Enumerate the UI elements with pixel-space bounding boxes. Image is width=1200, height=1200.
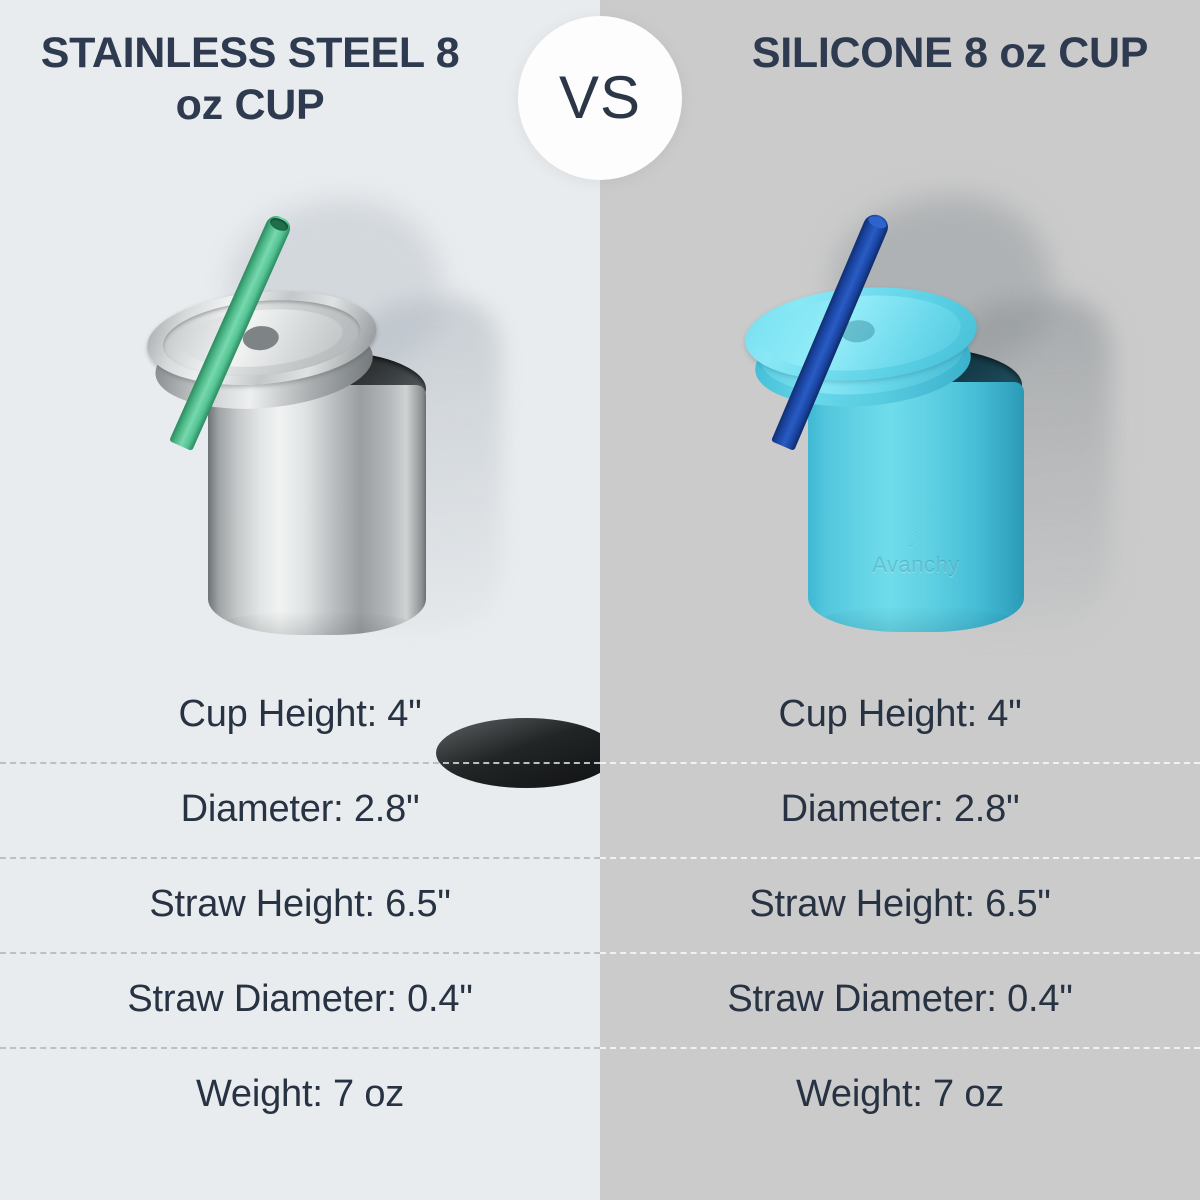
vs-badge: VS (518, 16, 682, 180)
brand-name: Avanchy (872, 552, 959, 577)
spec-text: Diameter: 2.8" (781, 788, 1020, 831)
spec-row: Cup Height: 4" (0, 667, 600, 762)
spec-text: Straw Height: 6.5" (749, 883, 1050, 926)
panel-silicone: SILICONE 8 oz CUP ☄ Avanchy (600, 0, 1200, 1200)
product-image-silicone-cup: ☄ Avanchy (600, 0, 1200, 670)
spec-row: Diameter: 2.8" (0, 762, 600, 857)
spec-text: Cup Height: 4" (778, 693, 1021, 736)
cup-lid (143, 282, 383, 422)
spec-text: Straw Diameter: 0.4" (127, 978, 472, 1021)
spec-list-silicone: Cup Height: 4" Diameter: 2.8" Straw Heig… (600, 667, 1200, 1200)
spec-text: Straw Height: 6.5" (149, 883, 450, 926)
cup-body: ☄ Avanchy (808, 382, 1024, 632)
brand-mark-icon: ☄ (872, 532, 959, 552)
spec-row: Diameter: 2.8" (600, 762, 1200, 857)
spec-text: Diameter: 2.8" (181, 788, 420, 831)
spec-text: Weight: 7 oz (796, 1073, 1004, 1116)
spec-row: Straw Diameter: 0.4" (600, 952, 1200, 1047)
spec-text: Weight: 7 oz (196, 1073, 404, 1116)
cup-body (208, 385, 426, 635)
spec-text: Cup Height: 4" (178, 693, 421, 736)
panel-stainless-steel: STAINLESS STEEL 8 oz CUP C (0, 0, 600, 1200)
spec-row: Cup Height: 4" (600, 667, 1200, 762)
vs-label: VS (559, 68, 641, 128)
cup-lid (742, 280, 982, 418)
spec-row: Straw Diameter: 0.4" (0, 952, 600, 1047)
spec-text: Straw Diameter: 0.4" (727, 978, 1072, 1021)
comparison-board: STAINLESS STEEL 8 oz CUP C (0, 0, 1200, 1200)
spec-row: Straw Height: 6.5" (600, 857, 1200, 952)
brand-logo-embossed: ☄ Avanchy (872, 532, 959, 578)
product-image-stainless-steel-cup (0, 0, 600, 670)
spec-list-stainless: Cup Height: 4" Diameter: 2.8" Straw Heig… (0, 667, 600, 1200)
spec-row: Weight: 7 oz (0, 1047, 600, 1142)
spec-row: Weight: 7 oz (600, 1047, 1200, 1142)
spec-row: Straw Height: 6.5" (0, 857, 600, 952)
